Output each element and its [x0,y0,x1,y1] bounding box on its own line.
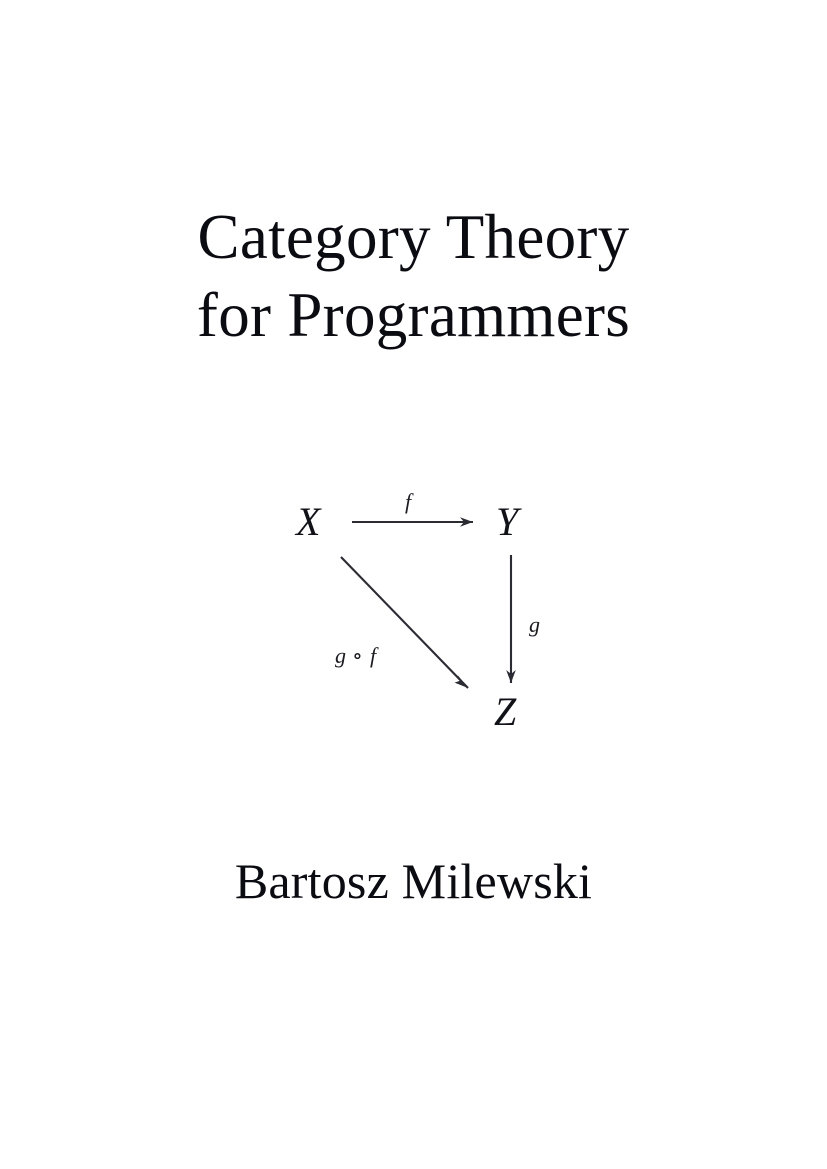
diagram-object-z: Z [494,689,517,734]
diagram-label-composite-f: f [370,643,379,668]
page-title: Category Theory for Programmers [0,198,827,354]
commutative-diagram: X Y Z f g g ∘ f [268,455,568,755]
diagram-object-y: Y [496,499,522,544]
book-cover-page: Category Theory for Programmers X [0,0,827,1169]
title-line-2: for Programmers [0,276,827,354]
diagram-object-x: X [294,499,322,544]
diagram-label-composite: g ∘ f [335,643,379,668]
morphism-g-arrow [506,555,516,683]
diagram-label-f: f [405,489,414,514]
title-line-1: Category Theory [0,198,827,276]
diagram-canvas: X Y Z f g g ∘ f [268,455,568,755]
arrow-composite-line [341,557,468,688]
diagram-label-composite-g: g [335,643,346,668]
diagram-label-composite-operator: ∘ [352,643,363,668]
diagram-label-g: g [529,612,540,637]
author-name: Bartosz Milewski [235,852,592,910]
author-block: Bartosz Milewski [0,852,827,910]
morphism-f-arrow [352,517,473,527]
morphism-composite-arrow [341,557,468,688]
